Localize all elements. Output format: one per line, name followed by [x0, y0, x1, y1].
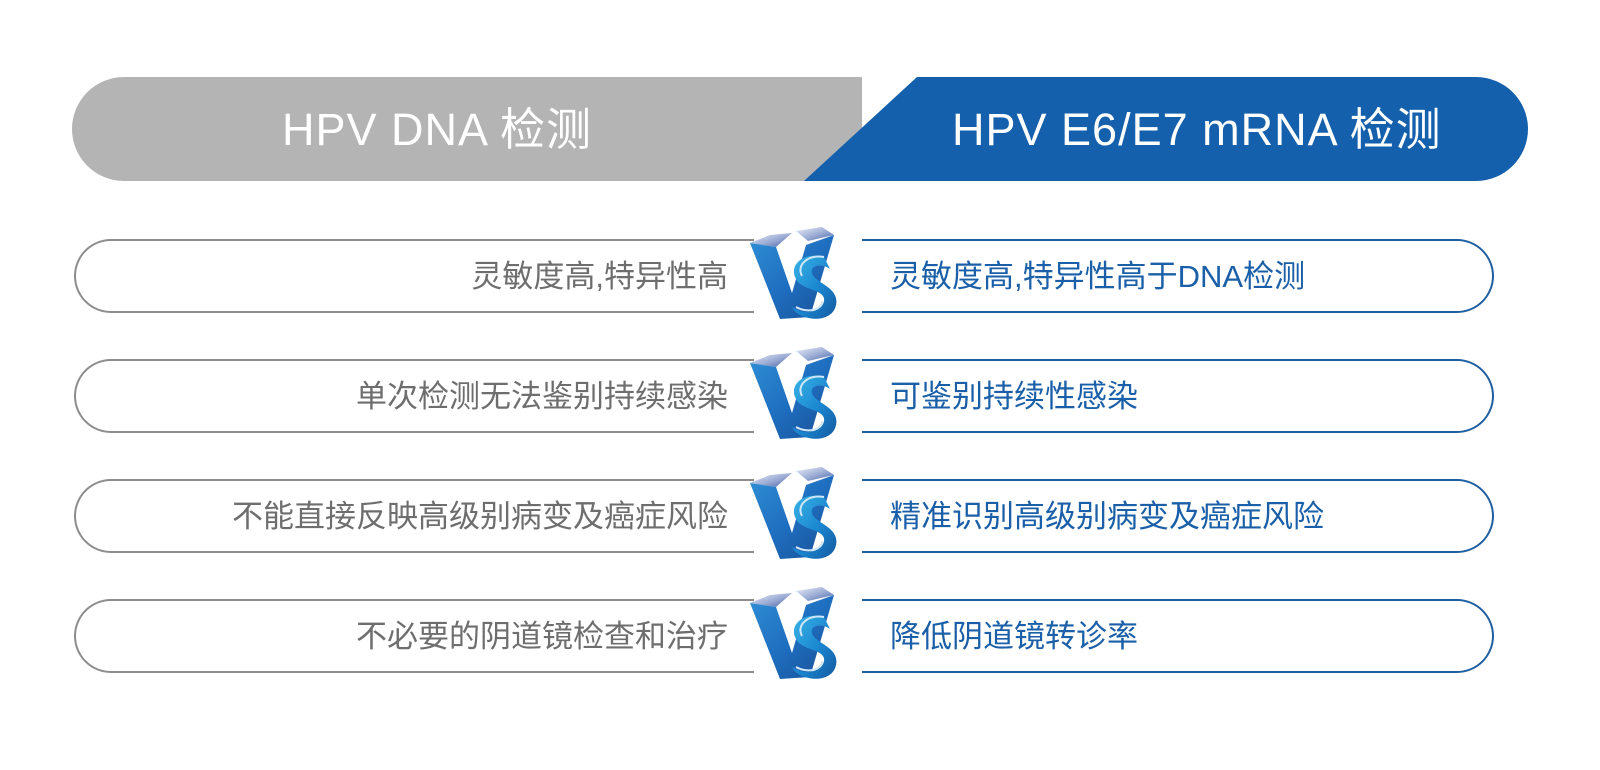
mrna-feature-pill: 灵敏度高,特异性高于DNA检测 [862, 239, 1494, 313]
comparison-row: 不必要的阴道镜检查和治疗 [0, 599, 1600, 673]
vs-logo-icon [736, 581, 848, 693]
mrna-feature-pill: 精准识别高级别病变及癌症风险 [862, 479, 1494, 553]
dna-feature-pill: 不能直接反映高级别病变及癌症风险 [74, 479, 754, 553]
mrna-feature-pill: 可鉴别持续性感染 [862, 359, 1494, 433]
comparison-row: 不能直接反映高级别病变及癌症风险 [0, 479, 1600, 553]
comparison-header-bar: HPV DNA 检测 HPV E6/E7 mRNA 检测 [72, 77, 1528, 181]
comparison-infographic: HPV DNA 检测 HPV E6/E7 mRNA 检测 灵敏度高,特异性高 [0, 0, 1600, 770]
mrna-feature-text: 降低阴道镜转诊率 [890, 621, 1138, 652]
dna-feature-pill: 单次检测无法鉴别持续感染 [74, 359, 754, 433]
dna-feature-text: 不能直接反映高级别病变及癌症风险 [232, 501, 728, 532]
dna-feature-text: 单次检测无法鉴别持续感染 [356, 381, 728, 412]
mrna-feature-text: 精准识别高级别病变及癌症风险 [890, 501, 1324, 532]
dna-feature-text: 不必要的阴道镜检查和治疗 [356, 621, 728, 652]
header-right-title: HPV E6/E7 mRNA 检测 [952, 107, 1442, 152]
vs-logo-icon [736, 221, 848, 333]
header-left-title: HPV DNA 检测 [282, 107, 592, 152]
mrna-feature-pill: 降低阴道镜转诊率 [862, 599, 1494, 673]
comparison-row: 灵敏度高,特异性高 [0, 239, 1600, 313]
dna-feature-pill: 灵敏度高,特异性高 [74, 239, 754, 313]
vs-logo-icon [736, 461, 848, 573]
dna-feature-pill: 不必要的阴道镜检查和治疗 [74, 599, 754, 673]
comparison-row: 单次检测无法鉴别持续感染 [0, 359, 1600, 433]
dna-feature-text: 灵敏度高,特异性高 [471, 261, 728, 292]
header-left-panel: HPV DNA 检测 [72, 77, 862, 181]
mrna-feature-text: 可鉴别持续性感染 [890, 381, 1138, 412]
mrna-feature-text: 灵敏度高,特异性高于DNA检测 [890, 261, 1305, 292]
vs-logo-icon [736, 341, 848, 453]
comparison-rows: 灵敏度高,特异性高 [0, 239, 1600, 719]
